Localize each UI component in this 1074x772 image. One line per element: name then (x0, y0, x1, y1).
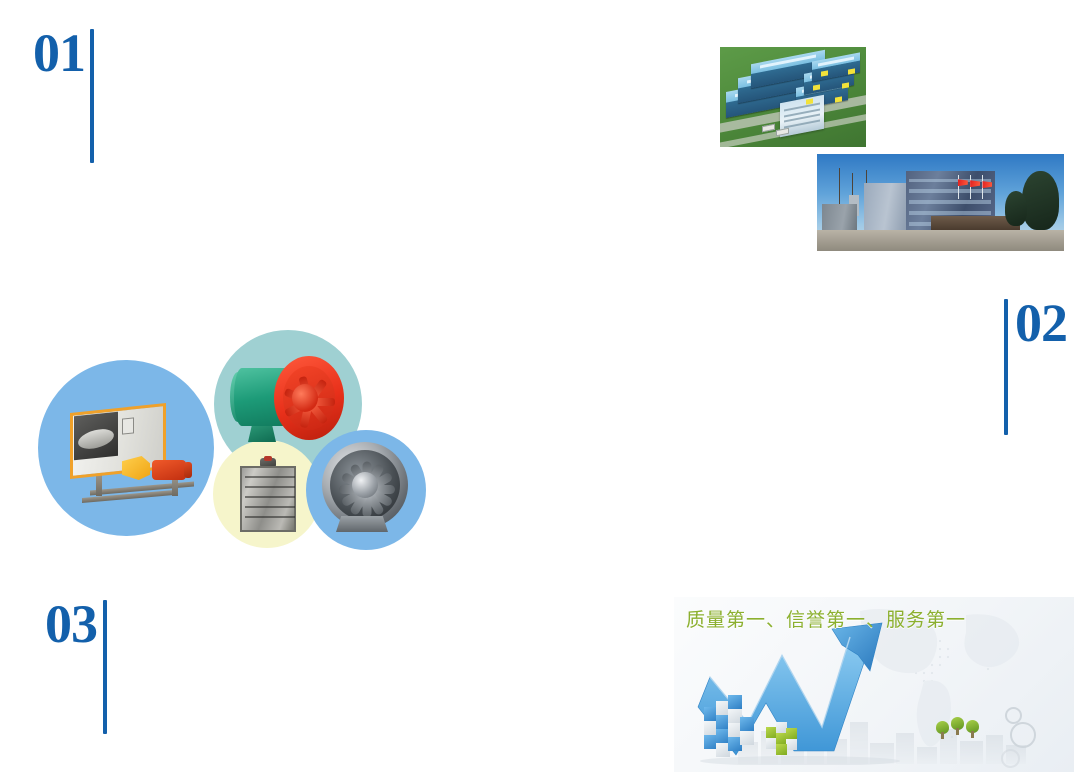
photo-foreground-ground (817, 230, 1064, 251)
axial-fan-hub (292, 384, 318, 412)
metal-fan-shell (322, 442, 408, 528)
motto-text: 质量第一、信誉第一、服务第一 (686, 605, 966, 632)
section-number-marker-02: 02 (1004, 296, 1067, 435)
fan-base-leg (96, 474, 102, 496)
product-metal-axial-fan (322, 442, 420, 538)
decorative-ring (1010, 722, 1036, 748)
page-root: 01 02 03 (0, 0, 1074, 772)
section-rule-01 (90, 29, 94, 163)
section-number-03: 03 (45, 597, 97, 651)
factory-3d-render-image (718, 45, 868, 149)
product-cabinet-centrifugal-fan (60, 400, 200, 508)
product-image-group (38, 330, 428, 550)
section-number-marker-01: 01 (33, 26, 94, 163)
photo-conifer-tree (1022, 171, 1059, 229)
office-building-photo-image (815, 152, 1066, 253)
product-axial-flow-fan (234, 354, 346, 454)
metal-fan-bracket (336, 516, 388, 532)
factory-image-group (718, 45, 1068, 255)
section-number-marker-03: 03 (45, 597, 107, 734)
product-air-damper (240, 458, 296, 534)
photo-conifer-tree (1005, 191, 1027, 226)
photo-flag-pole (958, 175, 959, 198)
damper-frame (240, 466, 296, 532)
metal-fan-hub (352, 472, 378, 498)
damper-actuator-indicator (264, 456, 272, 461)
fan-motor (152, 460, 186, 480)
section-rule-02 (1004, 299, 1008, 435)
section-rule-03 (103, 600, 107, 734)
section-number-01: 01 (33, 26, 85, 80)
section-number-02: 02 (1015, 296, 1067, 350)
photo-side-building (864, 183, 911, 232)
fan-motor-cap (184, 462, 192, 478)
fan-control-panel (122, 417, 134, 434)
decorative-ring (1001, 749, 1020, 768)
motto-banner-image: 质量第一、信誉第一、服务第一 (674, 597, 1074, 772)
